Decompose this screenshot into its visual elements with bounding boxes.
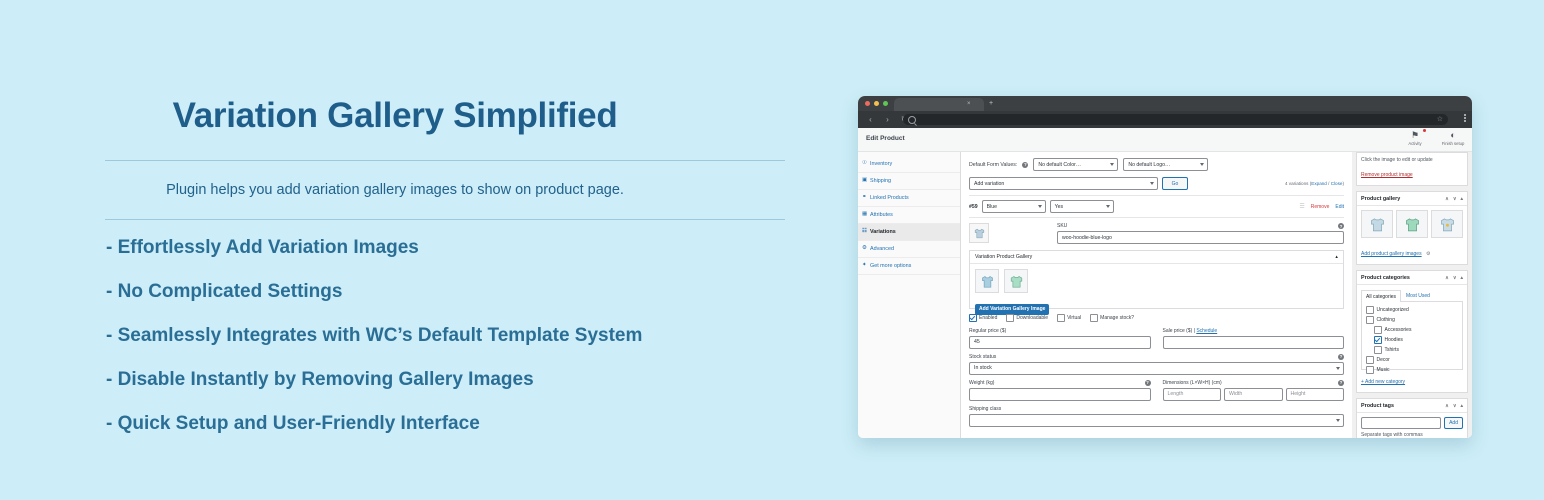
checkbox-downloadable[interactable]: Downloadable: [1006, 314, 1048, 322]
length-input[interactable]: Length: [1163, 388, 1222, 401]
screenshot-stage: Variation Gallery Simplified Plugin help…: [0, 0, 1544, 500]
wp-admin-body: ☉ Inventory ▣ Shipping ⚭ Linked Products…: [858, 152, 1472, 438]
variation-image-and-sku: SKU ? woo-hoodie-blue-logo: [969, 223, 1344, 244]
drag-handle-icon[interactable]: ☰: [1299, 203, 1304, 210]
product-gallery-title: Product gallery: [1361, 196, 1400, 202]
admin-bar-actions: ⚑ Activity ◐ Finish setup: [1402, 130, 1466, 146]
sale-price-text: Sale price ($): [1163, 328, 1193, 334]
product-categories-title: Product categories: [1361, 275, 1410, 281]
checkbox-icon[interactable]: [1374, 326, 1382, 334]
product-data-metabox: ☉ Inventory ▣ Shipping ⚭ Linked Products…: [858, 152, 1352, 438]
add-variation-row: Add variation Go 4 variations (Expand / …: [969, 177, 1344, 190]
archive-icon: ☉: [862, 160, 867, 166]
divider-top: [105, 160, 785, 161]
checkbox-icon[interactable]: [1057, 314, 1065, 322]
sale-price-group: Sale price ($) | Schedule: [1163, 328, 1345, 349]
tab-most-used[interactable]: Most Used: [1401, 289, 1435, 301]
category-item[interactable]: Decor: [1366, 356, 1458, 364]
checkbox-enabled[interactable]: Enabled: [969, 314, 997, 322]
divider-bottom: [105, 219, 785, 220]
breadcrumb: Edit Product: [866, 135, 905, 142]
variation-gallery-header[interactable]: Variation Product Gallery ▴: [970, 251, 1343, 264]
tag-input[interactable]: [1361, 417, 1441, 429]
sidebar-item-attributes[interactable]: ▦ Attributes: [858, 207, 960, 224]
cart-icon: ✦: [862, 262, 867, 268]
schedule-link[interactable]: Schedule: [1196, 328, 1217, 334]
stock-status-label: Stock status: [969, 354, 996, 360]
maximize-window-icon[interactable]: [883, 101, 888, 106]
variation-header-row: #59 Blue Yes ☰ Remove Edit: [969, 195, 1344, 217]
progress-circle-icon: ◐: [1440, 130, 1466, 140]
sale-price-label-row: Sale price ($) | Schedule: [1163, 328, 1345, 334]
default-form-values-row: Default Form Values: ? No default Color……: [969, 158, 1344, 171]
address-bar[interactable]: ☆: [903, 114, 1448, 125]
product-gallery-body: Add product gallery images ⚙: [1357, 206, 1467, 264]
default-logo-select[interactable]: No default Logo…: [1123, 158, 1208, 171]
gallery-thumb[interactable]: [1361, 210, 1393, 238]
product-tags-panel: Product tags ∧ ∨ ▴ Add Separate tags wit…: [1356, 398, 1468, 438]
price-fields: Regular price ($) 45 Sale price ($) | Sc…: [969, 328, 1344, 349]
promo-panel: Variation Gallery Simplified Plugin help…: [0, 0, 856, 500]
variation-checkbox-row: Enabled Downloadable Virtual: [969, 314, 1344, 322]
tab-label: Linked Products: [870, 195, 909, 201]
category-label: Music: [1377, 367, 1390, 373]
chevron-up-icon[interactable]: ∧: [1445, 196, 1449, 202]
back-icon[interactable]: ‹: [866, 115, 875, 124]
list-item: - Seamlessly Integrates with WC’s Defaul…: [106, 326, 846, 345]
category-label: Clothing: [1377, 317, 1395, 323]
truck-icon: ▣: [862, 177, 867, 183]
flag-icon: ⚑: [1402, 130, 1428, 140]
width-input[interactable]: Width: [1224, 388, 1283, 401]
product-categories-header: Product categories ∧ ∨ ▴: [1357, 271, 1467, 285]
variations-panel: Default Form Values: ? No default Color……: [961, 152, 1352, 438]
variation-actions: ☰ Remove Edit: [1299, 203, 1344, 210]
variation-image-thumb[interactable]: [969, 223, 989, 243]
list-icon: ▦: [862, 211, 867, 217]
tag-hint: Separate tags with commas: [1361, 432, 1463, 438]
checkbox-icon[interactable]: [1366, 306, 1374, 314]
search-icon: [908, 116, 916, 124]
notification-badge: [1423, 129, 1426, 132]
help-icon[interactable]: ?: [1338, 223, 1344, 229]
category-tabs: All categories Most Used: [1361, 289, 1463, 302]
add-variation-select[interactable]: Add variation: [969, 177, 1158, 190]
variation-id: #59: [969, 204, 978, 210]
product-data-tabs: ☉ Inventory ▣ Shipping ⚭ Linked Products…: [858, 152, 961, 438]
sidebar-item-advanced[interactable]: ⚙ Advanced: [858, 241, 960, 258]
add-tag-button[interactable]: Add: [1444, 417, 1463, 429]
forward-icon[interactable]: ›: [883, 115, 892, 124]
tab-all-categories[interactable]: All categories: [1361, 290, 1401, 302]
variation-product-gallery: Variation Product Gallery ▴: [969, 250, 1344, 309]
featured-image-body: Click the image to edit or update Remove…: [1357, 153, 1467, 185]
feature-list: - Effortlessly Add Variation Images - No…: [106, 238, 846, 458]
tab-label: Attributes: [870, 212, 893, 218]
category-item[interactable]: Accessories: [1374, 326, 1458, 334]
variation-logo-select[interactable]: Yes: [1050, 200, 1114, 213]
list-item: - Effortlessly Add Variation Images: [106, 238, 846, 257]
checkbox-label: Downloadable: [1016, 315, 1048, 321]
variation-body: SKU ? woo-hoodie-blue-logo Variation Pro…: [969, 217, 1344, 427]
dimensions-label-row: Dimensions (L×W×H) (cm) ?: [1163, 380, 1345, 386]
browser-tab[interactable]: ×: [894, 98, 984, 111]
gear-icon[interactable]: ⚙: [1426, 251, 1430, 257]
category-label: Hoodies: [1385, 337, 1403, 343]
regular-price-input[interactable]: 45: [969, 336, 1151, 349]
tab-label: Get more options: [870, 263, 911, 269]
shipping-fields: Weight (kg) ? Dimensions (L×W×H) (cm) ?: [969, 380, 1344, 401]
category-item[interactable]: Tshirts: [1374, 346, 1458, 354]
checkbox-virtual[interactable]: Virtual: [1057, 314, 1081, 322]
category-item[interactable]: Music: [1366, 366, 1458, 374]
panel-controls[interactable]: ∧ ∨ ▴: [1445, 275, 1463, 281]
bookmark-icon[interactable]: ☆: [1437, 116, 1443, 123]
list-item: - No Complicated Settings: [106, 282, 846, 301]
panel-controls[interactable]: ∧ ∨ ▴: [1445, 403, 1463, 409]
variation-count: 4 variations (Expand / Close): [1285, 181, 1344, 186]
regular-price-label: Regular price ($): [969, 328, 1151, 334]
chevron-up-icon[interactable]: ∧: [1445, 275, 1449, 281]
product-categories-body: All categories Most Used Uncategorized C…: [1357, 285, 1467, 392]
dimensions-group: Dimensions (L×W×H) (cm) ? Length Width H…: [1163, 380, 1345, 401]
chevron-up-icon[interactable]: ∧: [1445, 403, 1449, 409]
remove-product-image-link[interactable]: Remove product image: [1361, 172, 1413, 178]
checkbox-icon[interactable]: [1366, 356, 1374, 364]
gear-icon: ⚙: [862, 245, 867, 251]
chevron-down-icon[interactable]: ∨: [1453, 196, 1457, 202]
variation-color-select[interactable]: Blue: [982, 200, 1046, 213]
weight-label: Weight (kg): [969, 380, 994, 386]
tab-label: Advanced: [870, 246, 894, 252]
link-icon: ⚭: [862, 194, 867, 200]
browser-window: × + ‹ › ↻ ☆ Edit Product ⚑ Activity: [858, 96, 1472, 438]
sidebar-item-variations[interactable]: ☷ Variations: [858, 224, 960, 241]
sidebar-item-get-more-options[interactable]: ✦ Get more options: [858, 258, 960, 275]
page-title: Variation Gallery Simplified: [0, 96, 790, 136]
link-separator: /: [1328, 181, 1329, 186]
checkbox-icon[interactable]: [1374, 346, 1382, 354]
variation-count-text: 4 variations: [1285, 181, 1309, 186]
add-variation-gallery-image-button[interactable]: Add Variation Gallery Image: [975, 304, 1049, 315]
help-icon[interactable]: ?: [1338, 354, 1344, 360]
sale-price-separator: |: [1194, 328, 1195, 334]
category-label: Uncategorized: [1377, 307, 1409, 313]
category-item[interactable]: Uncategorized: [1366, 306, 1458, 314]
close-window-icon[interactable]: [865, 101, 870, 106]
new-tab-icon[interactable]: +: [989, 100, 993, 107]
sale-price-input[interactable]: [1163, 336, 1345, 349]
promo-subtitle: Plugin helps you add variation gallery i…: [0, 182, 790, 198]
variation-gallery-thumbs: [975, 269, 1338, 293]
checkbox-icon[interactable]: [1090, 314, 1098, 322]
checkbox-label: Manage stock?: [1100, 315, 1134, 321]
expand-link[interactable]: Expand: [1311, 181, 1327, 186]
category-label: Tshirts: [1385, 347, 1399, 353]
checkbox-label: Virtual: [1067, 315, 1081, 321]
dimensions-inputs: Length Width Height: [1163, 388, 1345, 401]
checkbox-label: Enabled: [979, 315, 997, 321]
gallery-image-thumb[interactable]: [1004, 269, 1028, 293]
product-tags-header: Product tags ∧ ∨ ▴: [1357, 399, 1467, 413]
gallery-thumb[interactable]: [1396, 210, 1428, 238]
chevron-down-icon[interactable]: ∨: [1453, 403, 1457, 409]
go-button[interactable]: Go: [1162, 177, 1188, 190]
sku-label: SKU: [1057, 223, 1067, 229]
height-input[interactable]: Height: [1286, 388, 1345, 401]
shipping-class-select[interactable]: [969, 414, 1344, 427]
kebab-menu-icon[interactable]: [1464, 114, 1466, 122]
category-item[interactable]: Clothing: [1366, 316, 1458, 324]
category-label: Accessories: [1385, 327, 1412, 333]
stock-status-select[interactable]: In stock: [969, 362, 1344, 375]
default-color-select[interactable]: No default Color…: [1033, 158, 1118, 171]
collapse-icon[interactable]: ▴: [1460, 275, 1463, 281]
checkbox-icon[interactable]: [1366, 316, 1374, 324]
panel-controls[interactable]: ∧ ∨ ▴: [1445, 196, 1463, 202]
checkbox-icon[interactable]: [969, 314, 977, 322]
remove-variation-link[interactable]: Remove: [1311, 204, 1330, 210]
collapse-icon[interactable]: ▴: [1460, 403, 1463, 409]
stock-status-label-row: Stock status ?: [969, 354, 1344, 360]
product-categories-panel: Product categories ∧ ∨ ▴ All categories …: [1356, 270, 1468, 393]
activity-label: Activity: [1402, 141, 1428, 146]
help-icon[interactable]: ?: [1338, 380, 1344, 386]
stock-status-group: Stock status ? In stock: [969, 354, 1344, 375]
variation-gallery-body: Add Variation Gallery Image: [970, 264, 1343, 308]
wp-right-sidebar: Click the image to edit or update Remove…: [1352, 152, 1472, 438]
sidebar-item-inventory[interactable]: ☉ Inventory: [858, 156, 960, 173]
browser-toolbar: ‹ › ↻ ☆: [858, 111, 1472, 128]
list-item: - Quick Setup and User-Friendly Interfac…: [106, 414, 846, 433]
chevron-up-icon[interactable]: ▴: [1335, 254, 1338, 260]
regular-price-group: Regular price ($) 45: [969, 328, 1151, 349]
add-new-category-link[interactable]: + Add new category: [1361, 379, 1405, 385]
tab-label: Shipping: [870, 178, 891, 184]
featured-image-hint: Click the image to edit or update: [1361, 157, 1463, 163]
gallery-image-thumb[interactable]: [975, 269, 999, 293]
sidebar-item-linked-products[interactable]: ⚭ Linked Products: [858, 190, 960, 207]
finish-setup-button[interactable]: ◐ Finish setup: [1440, 130, 1466, 146]
product-tags-title: Product tags: [1361, 403, 1394, 409]
checkbox-manage-stock[interactable]: Manage stock?: [1090, 314, 1134, 322]
sale-price-label: Sale price ($) | Schedule: [1163, 328, 1218, 334]
shipping-class-label: Shipping class: [969, 406, 1344, 412]
help-icon[interactable]: ?: [1145, 380, 1151, 386]
category-label: Decor: [1377, 357, 1390, 363]
tab-label: Variations: [870, 229, 896, 235]
close-link[interactable]: Close: [1331, 181, 1343, 186]
add-product-gallery-images-link[interactable]: Add product gallery images: [1361, 251, 1422, 257]
activity-button[interactable]: ⚑ Activity: [1402, 130, 1428, 146]
close-tab-icon[interactable]: ×: [967, 102, 972, 107]
finish-setup-label: Finish setup: [1440, 141, 1466, 146]
edit-variation-link[interactable]: Edit: [1335, 204, 1344, 210]
dimensions-label: Dimensions (L×W×H) (cm): [1163, 380, 1222, 386]
gallery-thumb[interactable]: [1431, 210, 1463, 238]
tab-label: Inventory: [870, 161, 892, 167]
featured-image-panel: Click the image to edit or update Remove…: [1356, 152, 1468, 186]
sidebar-item-shipping[interactable]: ▣ Shipping: [858, 173, 960, 190]
wp-admin-bar: Edit Product ⚑ Activity ◐ Finish setup: [858, 128, 1472, 152]
window-controls[interactable]: [865, 101, 888, 106]
sku-label-row: SKU ?: [1057, 223, 1344, 229]
browser-titlebar: × +: [858, 96, 1472, 111]
checkbox-icon[interactable]: [1006, 314, 1014, 322]
product-gallery-panel: Product gallery ∧ ∨ ▴: [1356, 191, 1468, 265]
weight-label-row: Weight (kg) ?: [969, 380, 1151, 386]
default-form-values-label: Default Form Values:: [969, 162, 1017, 168]
sku-input[interactable]: woo-hoodie-blue-logo: [1057, 231, 1344, 244]
help-icon[interactable]: ?: [1022, 162, 1028, 168]
product-gallery-header: Product gallery ∧ ∨ ▴: [1357, 192, 1467, 206]
collapse-icon[interactable]: ▴: [1460, 196, 1463, 202]
checkbox-icon[interactable]: [1366, 366, 1374, 374]
checkbox-icon[interactable]: [1374, 336, 1382, 344]
tag-input-row: Add: [1361, 417, 1463, 429]
category-item[interactable]: Hoodies: [1374, 336, 1458, 344]
minimize-window-icon[interactable]: [874, 101, 879, 106]
product-tags-body: Add Separate tags with commas Choose fro…: [1357, 413, 1467, 438]
weight-group: Weight (kg) ?: [969, 380, 1151, 401]
chevron-down-icon[interactable]: ∨: [1453, 275, 1457, 281]
list-item: - Disable Instantly by Removing Gallery …: [106, 370, 846, 389]
weight-input[interactable]: [969, 388, 1151, 401]
product-gallery-thumbs: [1361, 210, 1463, 238]
sku-field-group: SKU ? woo-hoodie-blue-logo: [1057, 223, 1344, 244]
variation-gallery-title: Variation Product Gallery: [975, 254, 1032, 260]
category-checklist[interactable]: Uncategorized Clothing Accessories: [1361, 302, 1463, 370]
shipping-class-group: Shipping class: [969, 406, 1344, 427]
grid-icon: ☷: [862, 228, 867, 234]
